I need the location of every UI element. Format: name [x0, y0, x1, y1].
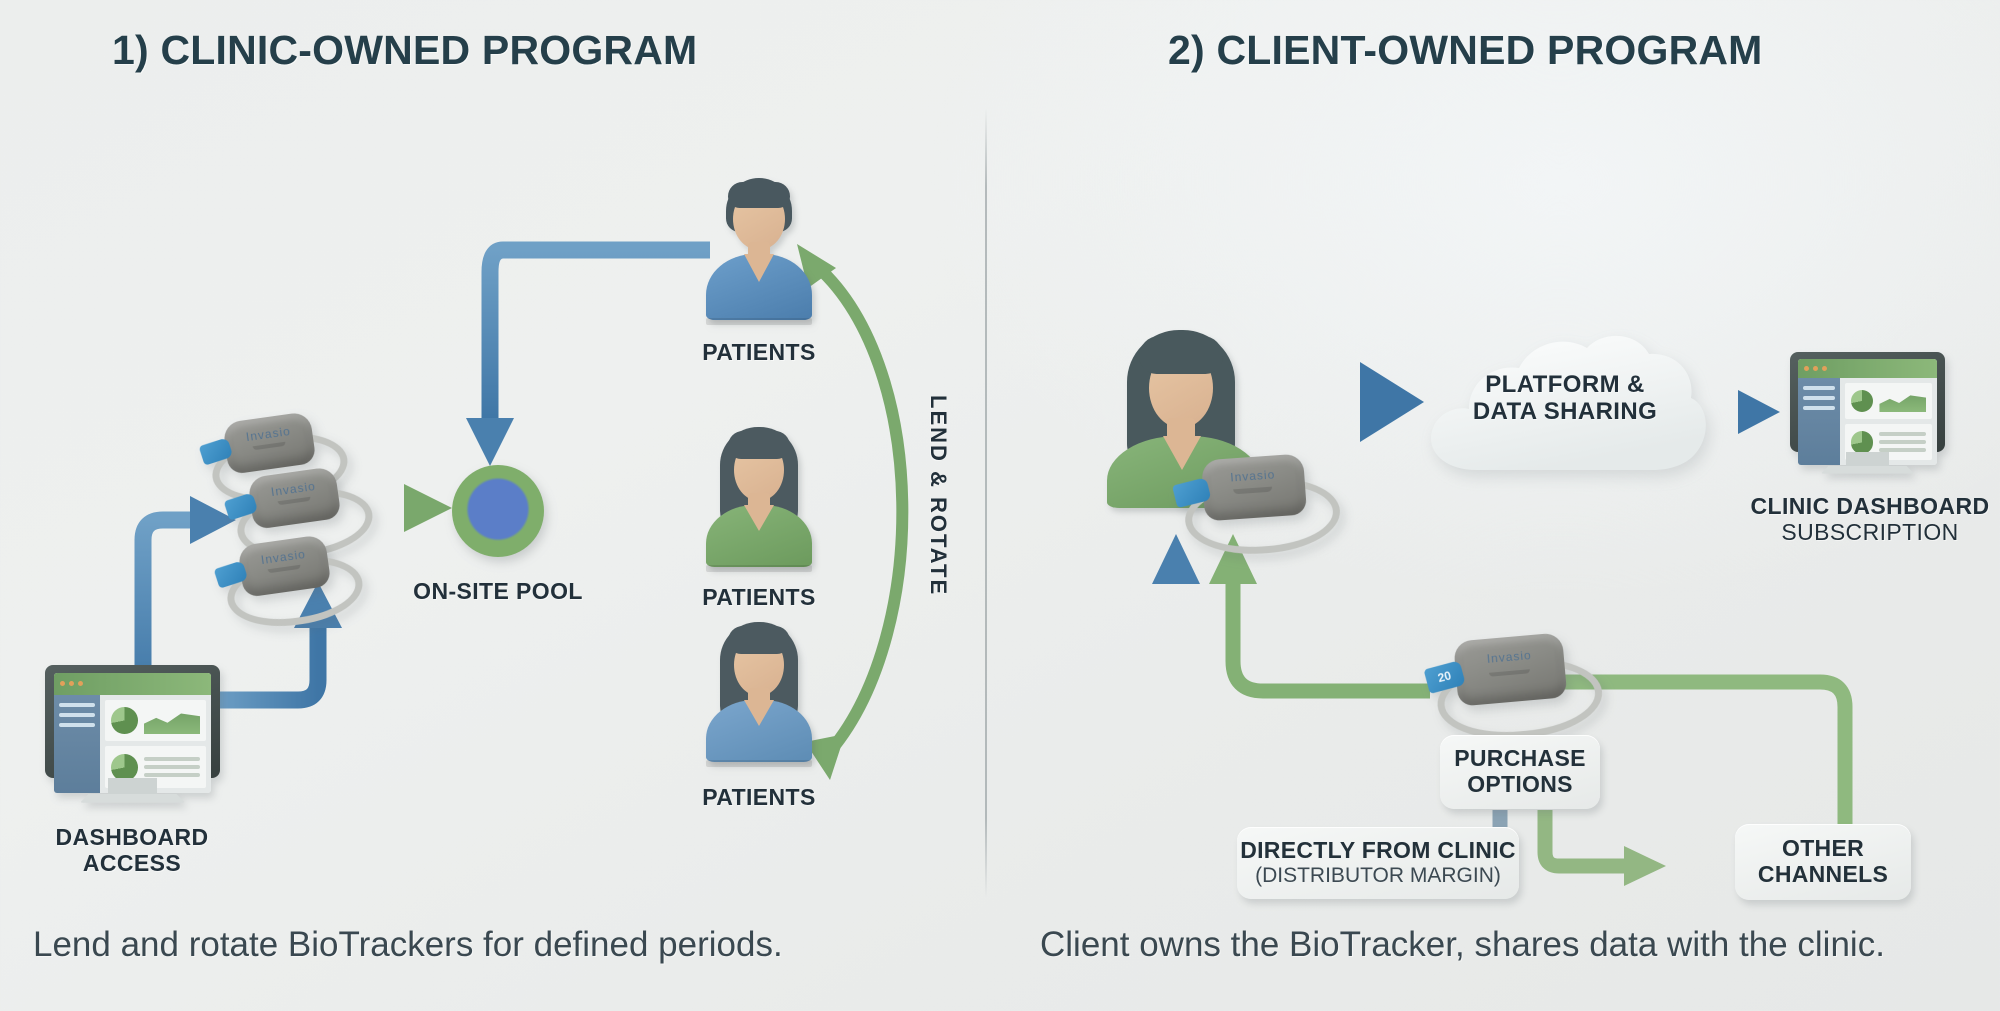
- device-brand-label: Invasio: [1201, 465, 1304, 486]
- legend-row: [1879, 432, 1926, 436]
- caption-client-owned: Client owns the BioTracker, shares data …: [1040, 925, 1885, 965]
- dashboard-access-label: DASHBOARD ACCESS: [27, 825, 237, 877]
- legend-rows: [1879, 432, 1926, 452]
- diagram-canvas: 1) CLINIC-OWNED PROGRAM 2) CLIENT-OWNED …: [0, 0, 2000, 1011]
- pie-chart-icon: [1851, 390, 1874, 413]
- window-dot-icon: [1804, 366, 1809, 371]
- directly-from-clinic-line1: DIRECTLY FROM CLINIC: [1240, 838, 1516, 864]
- purchase-options-line2: OPTIONS: [1467, 772, 1573, 798]
- window-dot-icon: [60, 681, 65, 686]
- avatar-base: [706, 318, 812, 325]
- clinic-dashboard-line1: CLINIC DASHBOARD: [1700, 494, 2000, 520]
- device-seam: [277, 497, 311, 505]
- sidebar-line: [1803, 396, 1835, 400]
- area-chart-icon: [1879, 390, 1926, 412]
- area-chart-icon: [144, 707, 201, 734]
- directly-from-clinic-line2: (DISTRIBUTOR MARGIN): [1255, 864, 1501, 888]
- directly-from-clinic-box[interactable]: DIRECTLY FROM CLINIC (DISTRIBUTOR MARGIN…: [1237, 827, 1519, 899]
- patient-label: PATIENTS: [689, 784, 829, 811]
- monitor-foot: [1821, 466, 1914, 474]
- device-body: Invasio: [1201, 453, 1307, 521]
- patient-label: PATIENTS: [689, 339, 829, 366]
- legend-row: [144, 765, 201, 769]
- avatar-base: [706, 760, 812, 767]
- monitor-topbar: [54, 673, 212, 695]
- other-channels-box[interactable]: OTHER CHANNELS: [1735, 824, 1911, 900]
- hair-fringe-icon: [1139, 336, 1223, 374]
- purchase-options-box[interactable]: PURCHASE OPTIONS: [1440, 735, 1600, 809]
- sidebar-line: [1803, 386, 1835, 390]
- patient-avatar: [700, 620, 818, 768]
- monitor-topbar: [1798, 359, 1938, 378]
- lend-and-rotate-label: LEND & ROTATE: [925, 395, 951, 596]
- panel-title-clinic-owned: 1) CLINIC-OWNED PROGRAM: [112, 27, 697, 74]
- purchase-options-line1: PURCHASE: [1454, 746, 1585, 772]
- device-brand-label: Invasio: [1454, 645, 1564, 668]
- window-dot-icon: [1822, 366, 1827, 371]
- panel-divider: [985, 108, 987, 898]
- monitor-sidebar: [54, 695, 100, 794]
- caption-clinic-owned: Lend and rotate BioTrackers for defined …: [33, 925, 783, 965]
- device-body: Invasio: [1453, 632, 1567, 706]
- other-channels-line2: CHANNELS: [1758, 862, 1888, 888]
- monitor-stand: [1846, 452, 1889, 466]
- patient-label: PATIENTS: [689, 584, 829, 611]
- arrow-purchase-to-other-channels: [1545, 810, 1666, 886]
- platform-cloud-label: PLATFORM & DATA SHARING: [1415, 372, 1715, 426]
- chart-card-top: [1845, 383, 1932, 419]
- platform-cloud: PLATFORM & DATA SHARING: [1415, 320, 1715, 500]
- arrow-person-to-cloud: [1258, 362, 1424, 442]
- window-dot-icon: [78, 681, 83, 686]
- window-dot-icon: [1813, 366, 1818, 371]
- clinic-dashboard-label: CLINIC DASHBOARD SUBSCRIPTION: [1700, 494, 2000, 546]
- sidebar-line: [1803, 406, 1835, 410]
- chart-card-top: [105, 700, 206, 742]
- biotracker-device: Invasio: [215, 529, 355, 626]
- monitor-sidebar: [1798, 378, 1840, 465]
- monitor-screen: [54, 673, 212, 793]
- legend-row: [144, 773, 201, 777]
- device-seam: [252, 442, 286, 450]
- hair-fringe-icon: [728, 626, 790, 654]
- monitor-stand: [108, 778, 157, 794]
- panel-title-client-owned: 2) CLIENT-OWNED PROGRAM: [1168, 27, 1763, 74]
- pie-chart-icon: [111, 754, 138, 781]
- legend-row: [144, 757, 201, 761]
- clinic-dashboard-line2: SUBSCRIPTION: [1700, 520, 2000, 546]
- biotracker-device-worn: Invasio: [1175, 450, 1331, 552]
- biotracker-device-purchasable: Invasio 20: [1426, 628, 1594, 740]
- dashboard-access-line2: ACCESS: [27, 851, 237, 877]
- hair-fringe-icon: [728, 182, 790, 208]
- cloud-line1: PLATFORM &: [1415, 372, 1715, 399]
- clinic-dashboard-monitor: [1790, 352, 1945, 480]
- device-seam: [1233, 487, 1272, 494]
- patient-avatar: [700, 178, 818, 326]
- legend-row: [1879, 440, 1926, 444]
- sidebar-line: [59, 703, 95, 707]
- cloud-line2: DATA SHARING: [1415, 399, 1715, 426]
- on-site-pool-label: ON-SITE POOL: [398, 578, 598, 605]
- other-channels-line1: OTHER: [1782, 836, 1864, 862]
- monitor-foot: [80, 794, 185, 803]
- arrow-patients-to-pool: [466, 250, 710, 466]
- hair-fringe-icon: [728, 431, 790, 459]
- sidebar-line: [59, 713, 95, 717]
- patient-avatar: [700, 425, 818, 573]
- pie-chart-icon: [111, 707, 138, 734]
- device-seam: [267, 565, 301, 573]
- monitor-screen: [1798, 359, 1938, 465]
- arrow-device-to-person: [1209, 534, 1430, 691]
- arrow-directly-from-clinic-to-person: [1152, 534, 1200, 900]
- avatar-base: [706, 565, 812, 572]
- device-seam: [1489, 669, 1531, 677]
- sidebar-line: [59, 723, 95, 727]
- dashboard-access-line1: DASHBOARD: [27, 825, 237, 851]
- on-site-pool-icon: [452, 465, 544, 557]
- legend-rows: [144, 757, 201, 777]
- pie-chart-icon: [1851, 431, 1874, 454]
- window-dot-icon: [69, 681, 74, 686]
- dashboard-monitor: [45, 665, 220, 810]
